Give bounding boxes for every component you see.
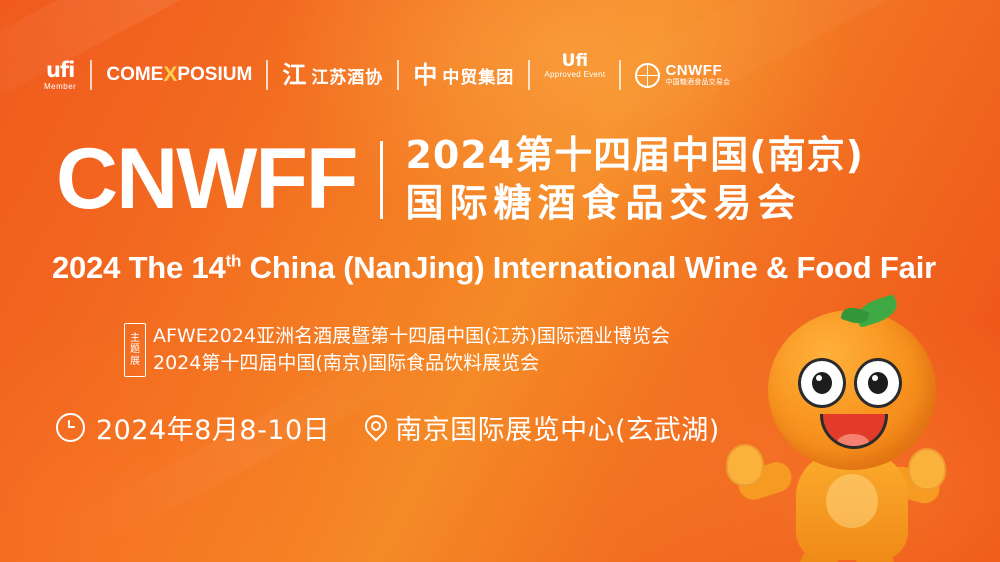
mascot-tongue [837, 434, 869, 449]
logo-divider-1 [90, 60, 92, 90]
chinese-title-line-1: 2024第十四届中国(南京) [405, 132, 864, 180]
ufi-member-logo-sub: Member [44, 83, 76, 91]
jiangsu-logo-mark: 江 [282, 63, 306, 87]
english-subtitle: 2024 The 14th China (NanJing) Internatio… [52, 250, 936, 286]
event-venue-item: 南京国际展览中心(玄武湖) [364, 408, 720, 447]
event-info-row: 2024年8月8-10日 南京国际展览中心(玄武湖) [56, 408, 720, 447]
main-title-block: CNWFF 2024第十四届中国(南京) 国际糖酒食品交易会 [56, 132, 864, 227]
ufi-member-logo-main: ufi [46, 60, 74, 81]
jiangsu-wine-association-logo: 江 江苏酒协 [282, 53, 383, 97]
brand-title: CNWFF [56, 139, 356, 221]
logo-divider-3 [397, 60, 399, 90]
clock-icon [56, 413, 85, 442]
sub-exhibition-line-1: AFWE2024亚洲名酒展暨第十四届中国(江苏)国际酒业博览会 [153, 323, 670, 350]
zhongmao-group-logo: 中 中贸集团 [413, 53, 514, 97]
sub-exhibition-line-2: 2024第十四届中国(南京)国际食品饮料展览会 [153, 350, 670, 377]
ufi-approved-top: Ufi [562, 53, 588, 71]
mascot-belly [826, 474, 878, 528]
english-subtitle-ordinal: th [226, 252, 242, 271]
title-divider [380, 141, 383, 219]
cnwff-logo-sub: 中国糖酒食品交易会 [665, 79, 730, 87]
zhongmao-logo-mark: 中 [413, 63, 437, 87]
logo-divider-2 [266, 60, 268, 90]
mascot-right-eye [854, 358, 902, 408]
comexposium-part1: COME [106, 64, 163, 86]
mascot-right-pupil [868, 372, 888, 394]
mascot-mouth [820, 414, 888, 449]
jiangsu-logo-text: 江苏酒协 [311, 63, 383, 88]
sub-exhibitions-tag: 主 题 展 [124, 323, 146, 377]
sub-exhibitions-block: 主 题 展 AFWE2024亚洲名酒展暨第十四届中国(江苏)国际酒业博览会 20… [124, 323, 670, 377]
partner-logo-bar: ufi Member COMEXPOSIUM 江 江苏酒协 中 中贸集团 Ufi… [44, 52, 730, 98]
event-date-text: 2024年8月8-10日 [96, 408, 330, 447]
location-pin-icon [364, 414, 386, 442]
sub-exhibitions-lines: AFWE2024亚洲名酒展暨第十四届中国(江苏)国际酒业博览会 2024第十四届… [153, 323, 670, 377]
ufi-approved-bottom: Approved Event [544, 71, 605, 79]
mascot-left-thumb [726, 444, 764, 486]
event-venue-text: 南京国际展览中心(玄武湖) [395, 408, 720, 447]
pin-dot [371, 421, 381, 431]
mascot-left-eye [798, 358, 846, 408]
ufi-approved-event-logo: Ufi Approved Event [544, 53, 605, 97]
sub-exhibitions-tag-char-3: 展 [130, 356, 140, 368]
cnwff-logo-words: CNWFF 中国糖酒食品交易会 [665, 63, 730, 87]
event-date-item: 2024年8月8-10日 [56, 408, 330, 447]
ufi-member-logo: ufi Member [44, 53, 76, 97]
sub-exhibitions-tag-char-2: 题 [130, 344, 140, 356]
chinese-title-line-2: 国际糖酒食品交易会 [405, 180, 864, 228]
globe-icon [635, 63, 660, 88]
sub-exhibitions-tag-char-1: 主 [130, 333, 140, 345]
poster-canvas: ufi Member COMEXPOSIUM 江 江苏酒协 中 中贸集团 Ufi… [0, 0, 1000, 562]
comexposium-part2: X [163, 63, 177, 87]
cnwff-logo: CNWFF 中国糖酒食品交易会 [635, 53, 730, 97]
orange-mascot [760, 310, 990, 562]
comexposium-part3: POSIUM [177, 64, 252, 86]
cnwff-logo-word: CNWFF [665, 63, 730, 80]
mascot-left-pupil [812, 372, 832, 394]
mascot-head [768, 310, 936, 470]
mascot-right-thumb [908, 448, 946, 490]
zhongmao-logo-text: 中贸集团 [442, 63, 514, 88]
logo-divider-5 [619, 60, 621, 90]
chinese-title: 2024第十四届中国(南京) 国际糖酒食品交易会 [405, 132, 864, 227]
comexposium-logo: COMEXPOSIUM [106, 53, 252, 97]
logo-divider-4 [528, 60, 530, 90]
english-subtitle-prefix: 2024 The 14 [52, 250, 226, 285]
english-subtitle-rest: China (NanJing) International Wine & Foo… [241, 250, 936, 285]
